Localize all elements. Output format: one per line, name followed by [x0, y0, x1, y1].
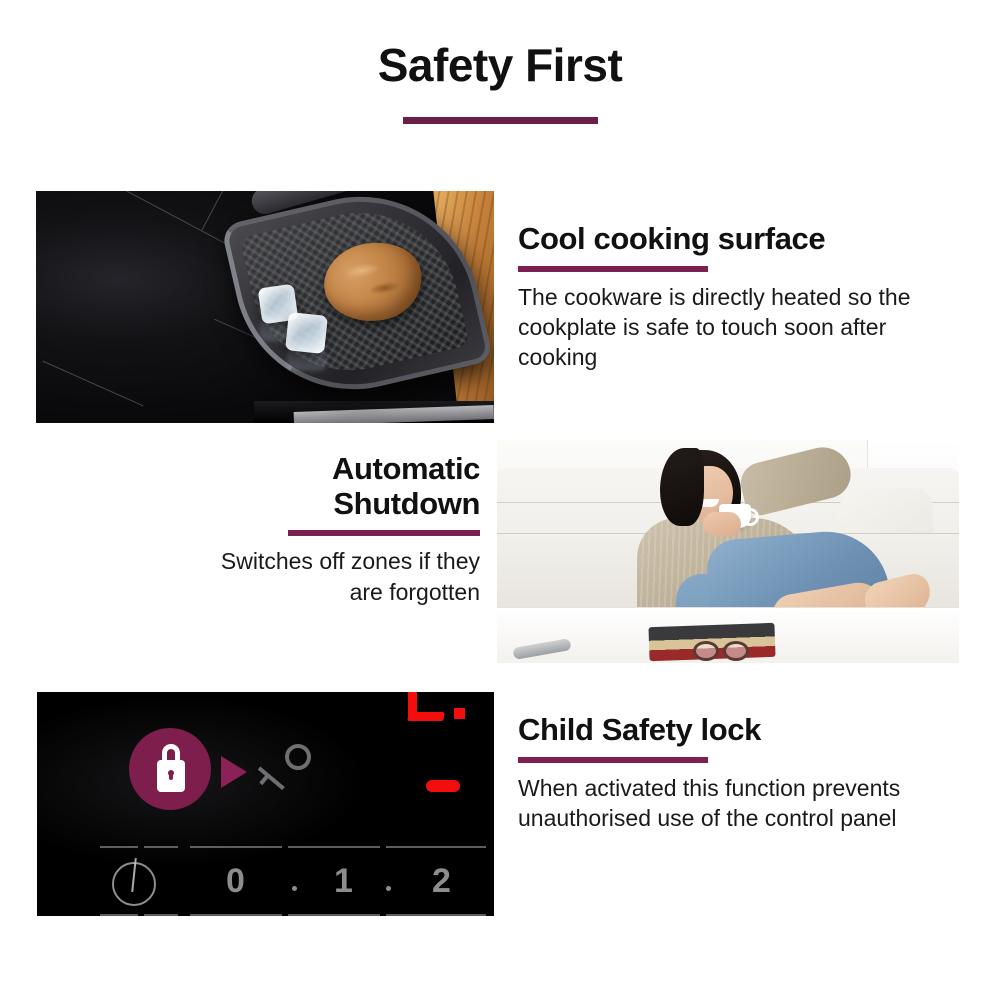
woman-hair-front — [660, 448, 704, 526]
child-safety-lock-text: Child Safety lock When activated this fu… — [518, 713, 966, 833]
arrow-right-icon — [221, 756, 247, 788]
induction-hob-surface — [36, 191, 494, 423]
lock-icon — [157, 744, 185, 796]
cool-cooking-surface-text: Cool cooking surface The cookware is dir… — [518, 222, 966, 373]
hob-zone-marking — [201, 191, 230, 230]
key-icon — [255, 744, 311, 794]
level-0-label: 0 — [226, 862, 245, 901]
living-room-scene — [497, 440, 959, 663]
woman-hand — [703, 512, 741, 536]
eyeglasses — [693, 641, 763, 663]
child-safety-lock-underline — [518, 757, 708, 763]
automatic-shutdown-image — [497, 440, 959, 663]
level-2-key[interactable]: 2 — [384, 846, 494, 916]
level-0-key[interactable]: 0 — [190, 846, 284, 916]
cool-cooking-surface-underline — [518, 266, 708, 272]
level-1-label: 1 — [334, 862, 353, 901]
automatic-shutdown-heading-line2: Shutdown — [190, 487, 480, 522]
ice-cube — [285, 312, 328, 354]
zone-dash-indicator — [426, 780, 460, 792]
hob-zone-marking — [43, 361, 144, 407]
lock-indicator-display — [400, 692, 466, 728]
page-title: Safety First — [0, 40, 1000, 91]
cooktop-control-panel: 0 1 2 — [37, 692, 494, 916]
cool-cooking-surface-heading: Cool cooking surface — [518, 222, 966, 257]
level-1-key[interactable]: 1 — [286, 846, 382, 916]
automatic-shutdown-body: Switches off zones if they are forgotten — [190, 546, 480, 607]
power-slider-row: 0 1 2 — [94, 846, 494, 916]
automatic-shutdown-text: Automatic Shutdown Switches off zones if… — [190, 452, 480, 607]
power-button[interactable] — [94, 846, 186, 916]
automatic-shutdown-heading-line1: Automatic — [190, 452, 480, 487]
automatic-shutdown-underline — [288, 530, 480, 536]
page-title-underline — [403, 117, 598, 124]
child-safety-lock-body: When activated this function prevents un… — [518, 773, 966, 834]
child-safety-lock-image: 0 1 2 — [37, 692, 494, 916]
level-2-label: 2 — [432, 862, 451, 901]
child-safety-lock-heading: Child Safety lock — [518, 713, 966, 748]
cool-cooking-surface-body: The cookware is directly heated so the c… — [518, 282, 966, 373]
cool-cooking-surface-image — [36, 191, 494, 423]
